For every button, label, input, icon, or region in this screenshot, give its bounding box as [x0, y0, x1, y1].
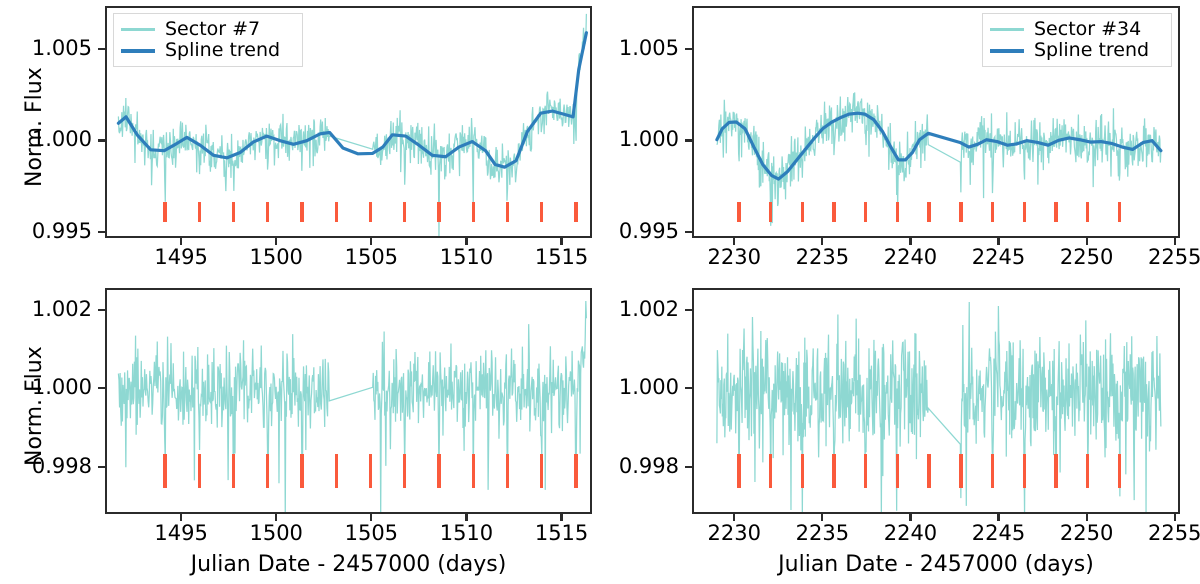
- x-tick-label: 2230: [689, 523, 779, 544]
- transit-marker: [832, 454, 835, 488]
- transit-marker: [769, 454, 772, 488]
- x-tick-label: 2250: [1042, 523, 1132, 544]
- x-tickmark: [733, 514, 735, 521]
- x-tick-label: 2235: [777, 523, 867, 544]
- transit-marker: [991, 454, 994, 488]
- x-tickmark: [1174, 514, 1176, 521]
- x-tick-label: 2255: [1130, 523, 1200, 544]
- flux-line-bottom-right: [717, 302, 1161, 514]
- x-tickmark: [1086, 514, 1088, 521]
- y-tick-label: 0.998: [603, 456, 679, 477]
- figure-canvas: 0.9951.0001.00514951500150515101515Norm.…: [0, 0, 1200, 584]
- y-tickmark: [685, 387, 692, 389]
- y-tickmark: [685, 309, 692, 311]
- transit-marker: [1023, 454, 1026, 488]
- transit-marker: [896, 454, 899, 488]
- transit-marker: [1054, 454, 1057, 488]
- transit-marker: [864, 454, 867, 488]
- transit-marker: [1118, 454, 1121, 488]
- x-axis-label: Julian Date - 2457000 (days): [692, 552, 1180, 577]
- x-tick-label: 2240: [865, 523, 955, 544]
- transit-marker: [801, 454, 804, 488]
- x-tickmark: [821, 514, 823, 521]
- transit-marker: [927, 454, 930, 488]
- x-tick-label: 2245: [954, 523, 1044, 544]
- series-layer-bottom-right: [694, 290, 1180, 514]
- transit-marker: [737, 454, 740, 488]
- x-tickmark: [909, 514, 911, 521]
- transit-marker: [1086, 454, 1089, 488]
- axes-frame-bottom-right: [692, 288, 1180, 514]
- x-tickmark: [997, 514, 999, 521]
- plot-panel-bottom-right: 0.9981.0001.002223022352240224522502255J…: [0, 0, 1200, 584]
- y-tick-label: 1.000: [603, 377, 679, 398]
- y-tick-label: 1.002: [603, 299, 679, 320]
- y-tickmark: [685, 466, 692, 468]
- transit-marker: [959, 454, 962, 488]
